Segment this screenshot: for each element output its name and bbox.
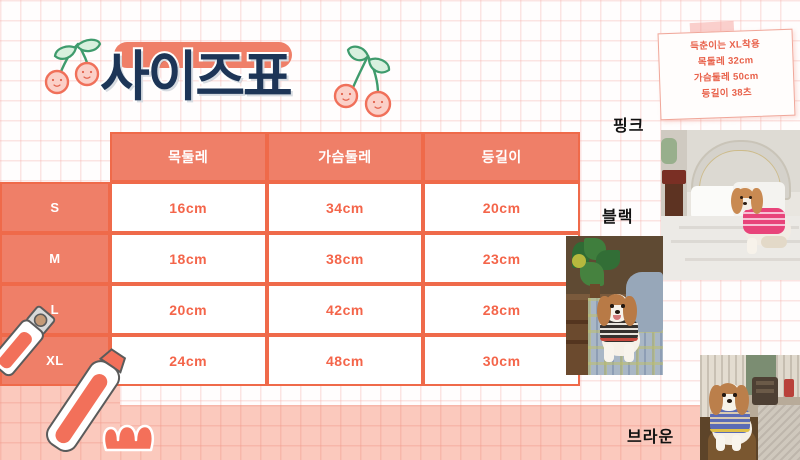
table-row: S 16cm 34cm 20cm xyxy=(0,182,580,233)
table-row: M 18cm 38cm 23cm xyxy=(0,233,580,284)
paw-scallop-icon xyxy=(100,420,160,456)
cell-l-neck: 20cm xyxy=(110,284,267,335)
cell-l-back: 28cm xyxy=(423,284,580,335)
sticky-note-text: 득춘이는 XL착용 목둘레 32cm 가슴둘레 50cm 등길이 38츠 xyxy=(661,36,791,104)
photo-label-black: 블랙 xyxy=(602,203,633,227)
photo-label-brown: 브라운 xyxy=(627,423,674,447)
cell-m-back: 23cm xyxy=(423,233,580,284)
size-label-s: S xyxy=(0,182,110,233)
table-row: L 20cm 42cm 28cm xyxy=(0,284,580,335)
cell-m-neck: 18cm xyxy=(110,233,267,284)
cell-xl-back: 30cm xyxy=(423,335,580,386)
cherry-right-icon xyxy=(322,36,412,126)
table-corner-cell xyxy=(0,132,110,182)
page-title: 사이즈표 xyxy=(100,50,330,104)
cell-l-chest: 42cm xyxy=(267,284,424,335)
column-header-back: 등길이 xyxy=(423,132,580,182)
cell-s-neck: 16cm xyxy=(110,182,267,233)
cell-s-chest: 34cm xyxy=(267,182,424,233)
column-header-neck: 목둘레 xyxy=(110,132,267,182)
cell-xl-chest: 48cm xyxy=(267,335,424,386)
page-title-group: 사이즈표 xyxy=(100,36,330,126)
column-header-chest: 가슴둘레 xyxy=(267,132,424,182)
photo-pink xyxy=(661,130,800,280)
size-label-m: M xyxy=(0,233,110,284)
cell-s-back: 20cm xyxy=(423,182,580,233)
table-header-row: 목둘레 가슴둘레 등길이 xyxy=(0,132,580,182)
cell-m-chest: 38cm xyxy=(267,233,424,284)
photo-black xyxy=(566,236,663,375)
size-chart-page: 사이즈표 득춘이는 XL착용 목둘레 32cm 가슴둘레 50cm 등길이 38… xyxy=(0,0,800,460)
photo-brown xyxy=(700,355,800,460)
photo-label-pink: 핑크 xyxy=(613,112,644,136)
